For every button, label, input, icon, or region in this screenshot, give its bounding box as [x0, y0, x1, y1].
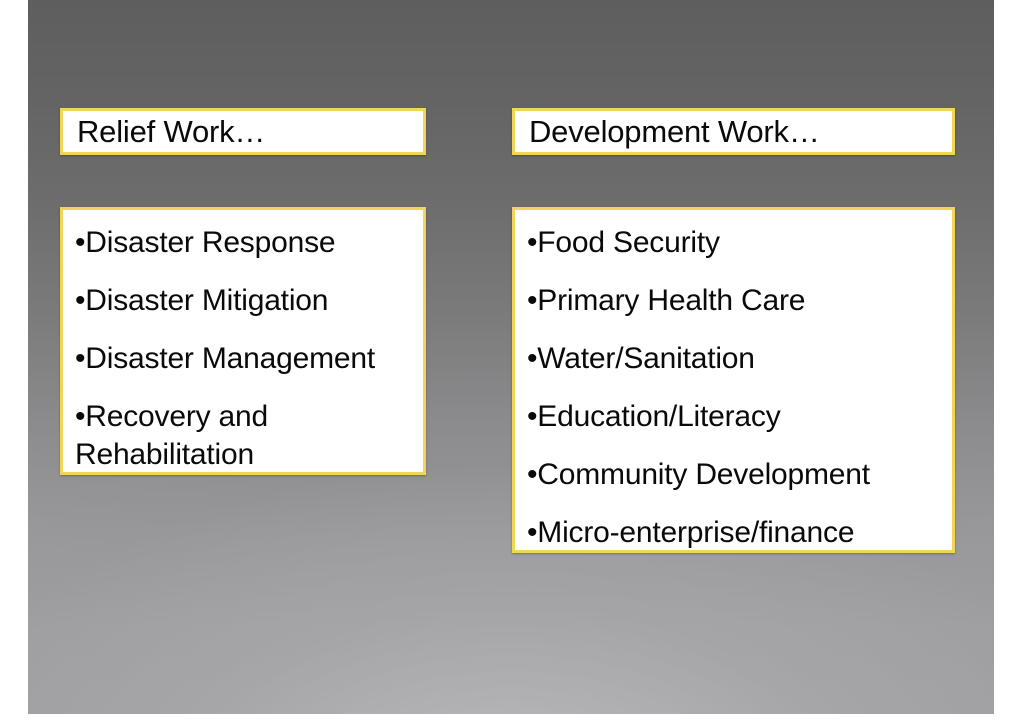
development-work-header-text: Development Work… — [529, 115, 820, 149]
list-item: •Micro-enterprise/finance — [527, 514, 942, 552]
relief-work-header-panel: Relief Work… — [60, 108, 426, 155]
relief-work-header-text: Relief Work… — [77, 115, 265, 149]
list-item: •Disaster Management — [75, 340, 413, 378]
development-work-header-panel: Development Work… — [512, 108, 955, 155]
relief-work-list-panel: •Disaster Response •Disaster Mitigation … — [60, 207, 426, 475]
list-item: •Disaster Mitigation — [75, 282, 413, 320]
list-item: •Disaster Response — [75, 224, 413, 262]
list-item: •Recovery and Rehabilitation — [75, 398, 413, 474]
list-item: •Education/Literacy — [527, 398, 942, 436]
list-item: •Food Security — [527, 224, 942, 262]
slide-canvas: Relief Work… •Disaster Response •Disaste… — [0, 0, 1024, 724]
development-work-list-panel: •Food Security •Primary Health Care •Wat… — [512, 207, 955, 553]
list-item: •Water/Sanitation — [527, 340, 942, 378]
list-item: •Primary Health Care — [527, 282, 942, 320]
list-item: •Community Development — [527, 456, 942, 494]
